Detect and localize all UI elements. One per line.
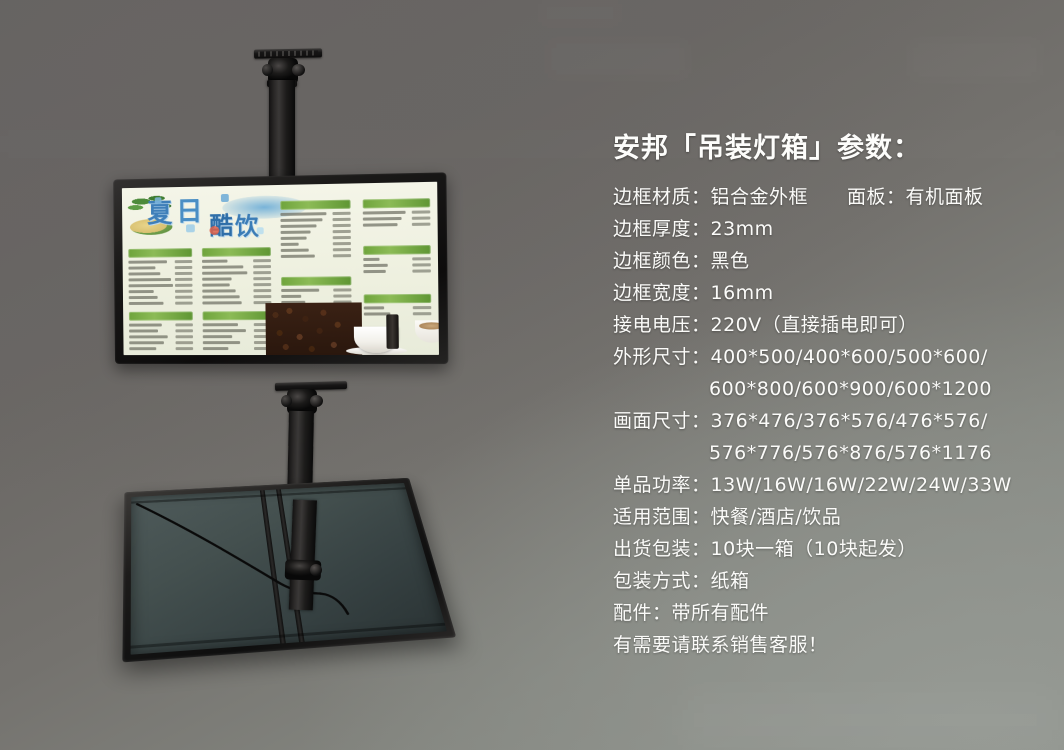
spec-line: 出货包装：10块一箱（10块起发） — [613, 533, 1043, 565]
spec-line: 包装方式：纸箱 — [613, 565, 1043, 597]
menu-rows — [363, 209, 431, 226]
menu-rows — [203, 322, 272, 350]
menu-row — [129, 289, 193, 293]
spec-line: 有需要请联系销售客服！ — [613, 629, 1043, 661]
menu-row — [129, 328, 193, 332]
lightbox-upper: 夏 日 酷 饮 — [113, 172, 448, 364]
menu-row — [202, 282, 271, 287]
menu-row — [363, 215, 431, 220]
spec-line: 外形尺寸：400*500/400*600/500*600/ — [613, 341, 1043, 373]
spec-line: 接电电压：220V（直接插电即可） — [613, 309, 1043, 341]
confetti-dot — [155, 197, 162, 204]
menu-row — [281, 293, 351, 298]
menu-rows — [202, 258, 271, 304]
menu-row — [202, 300, 271, 304]
spec-title: 安邦「吊装灯箱」参数： — [613, 126, 1043, 165]
menu-row — [281, 247, 351, 252]
menu-row — [129, 277, 193, 282]
menu-row — [363, 209, 431, 214]
coffee-photo — [265, 302, 439, 355]
compression-artifact — [910, 40, 1040, 80]
product-photo-canvas: 夏 日 酷 饮 — [0, 0, 1064, 750]
spec-line: 边框材质：铝合金外框 面板：有机面板 — [613, 181, 1043, 213]
menu-rows — [363, 256, 431, 273]
confetti-dot — [257, 227, 264, 234]
clamp-knob-icon — [310, 564, 322, 576]
menu-row — [281, 253, 351, 258]
menu-row — [363, 262, 431, 267]
menu-row — [203, 322, 272, 326]
menu-row — [281, 287, 351, 292]
menu-row — [129, 301, 193, 305]
coffee-cup-icon — [415, 320, 439, 343]
menu-row — [202, 288, 271, 293]
spec-line: 600*800/600*900/600*1200 — [613, 373, 1043, 405]
menu-section — [363, 198, 431, 227]
hero-char: 日 — [176, 198, 203, 225]
spec-line: 适用范围：快餐/酒店/饮品 — [613, 501, 1043, 533]
mount-post-upper — [269, 80, 295, 188]
menu-section-header — [202, 247, 271, 257]
floor-highlight — [680, 690, 1060, 750]
lightbox-panel: 夏 日 酷 饮 — [122, 182, 439, 355]
menu-artwork: 夏 日 酷 饮 — [122, 182, 439, 355]
confetti-dot — [186, 224, 195, 232]
hero-char: 夏 — [147, 201, 172, 227]
menu-row — [280, 217, 350, 222]
menu-row — [202, 264, 271, 269]
compression-artifact — [540, 0, 620, 26]
compression-artifact — [548, 40, 688, 78]
menu-row — [281, 235, 351, 240]
hero-char: 饮 — [235, 214, 259, 238]
menu-row — [202, 270, 271, 275]
menu-row — [363, 268, 431, 273]
menu-section-header — [128, 248, 192, 258]
spec-line: 边框宽度：16mm — [613, 277, 1043, 309]
menu-row — [129, 340, 193, 344]
spec-line: 配件：带所有配件 — [613, 597, 1043, 629]
menu-row — [202, 276, 271, 281]
menu-section-header — [281, 276, 351, 286]
menu-row — [363, 222, 431, 227]
menu-row — [129, 295, 193, 299]
menu-rows — [129, 322, 193, 350]
menu-row — [202, 294, 271, 298]
menu-section-header — [280, 200, 350, 210]
menu-row — [129, 334, 193, 338]
menu-section-header — [363, 198, 431, 208]
spec-line: 边框厚度：23mm — [613, 213, 1043, 245]
menu-row — [129, 322, 193, 326]
swivel-knob-icon — [292, 64, 305, 76]
menu-row — [128, 271, 192, 276]
menu-row — [203, 328, 272, 332]
menu-rows — [128, 259, 192, 305]
spec-line: 边框颜色：黑色 — [613, 245, 1043, 277]
spec-line: 576*776/576*876/576*1176 — [613, 437, 1043, 469]
menu-rows — [280, 211, 351, 258]
confetti-dot — [221, 194, 229, 202]
swivel-knob-icon — [281, 395, 292, 407]
menu-row — [280, 211, 350, 216]
menu-section-header — [363, 245, 431, 255]
specification-panel: 安邦「吊装灯箱」参数： 边框材质：铝合金外框 面板：有机面板 边框厚度：23mm… — [613, 126, 1043, 661]
menu-section-header — [203, 311, 272, 320]
menu-section — [128, 248, 192, 305]
coffee-beans-image — [265, 302, 362, 355]
menu-section — [280, 200, 351, 258]
menu-row — [281, 241, 351, 246]
menu-section — [129, 311, 193, 350]
menu-section — [363, 245, 431, 273]
menu-row — [203, 334, 272, 338]
spec-line: 单品功率：13W/16W/16W/22W/24W/33W — [613, 469, 1043, 501]
menu-row — [128, 259, 192, 264]
mount-post-extension — [289, 500, 317, 611]
menu-row — [129, 346, 193, 350]
spec-line: 画面尺寸：376*476/376*576/476*576/ — [613, 405, 1043, 437]
swivel-knob-icon — [310, 395, 323, 407]
menu-row — [129, 283, 193, 288]
menu-section-header — [129, 311, 193, 320]
menu-row — [363, 256, 431, 261]
menu-row — [281, 223, 351, 228]
menu-section — [203, 311, 272, 350]
menu-row — [128, 265, 192, 270]
menu-row — [203, 346, 272, 350]
menu-row — [203, 340, 272, 344]
spec-list: 边框材质：铝合金外框 面板：有机面板 边框厚度：23mm 边框颜色：黑色 边框宽… — [613, 181, 1043, 661]
coffee-grinder-icon — [386, 314, 399, 348]
menu-row — [281, 229, 351, 234]
menu-row — [202, 258, 271, 263]
menu-section — [202, 247, 272, 304]
swivel-knob-icon — [262, 64, 273, 76]
